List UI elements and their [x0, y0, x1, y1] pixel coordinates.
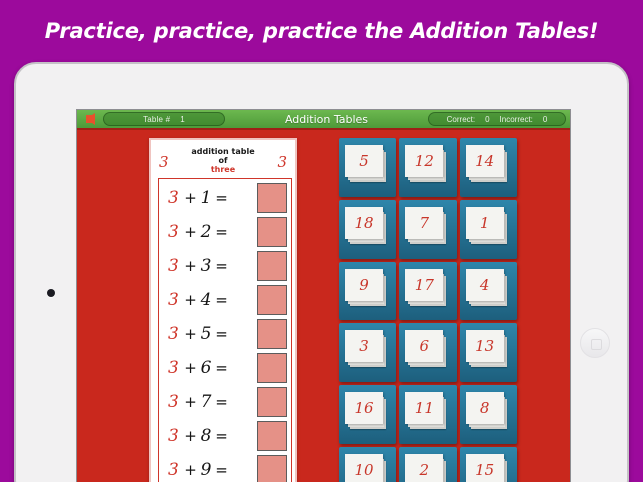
answer-slot[interactable]	[257, 455, 287, 482]
equation-equals: =	[214, 291, 229, 309]
heading-line-2: of	[155, 156, 291, 165]
card-face: 6	[405, 330, 443, 362]
correct-value: 0	[485, 115, 489, 124]
equation-addend: 4	[198, 290, 214, 310]
equation-row: 3+1=	[159, 181, 291, 215]
table-number: 1	[180, 115, 185, 124]
card-face: 14	[466, 145, 504, 177]
equation-base: 3	[168, 358, 183, 378]
tile-number: 14	[475, 152, 494, 170]
tile-number: 12	[415, 152, 434, 170]
tile-number: 6	[420, 337, 430, 355]
equation-equals: =	[214, 257, 229, 275]
equation-equals: =	[214, 393, 229, 411]
answer-tile[interactable]: 11	[399, 385, 456, 444]
tile-number: 11	[415, 399, 434, 417]
answer-tile[interactable]: 12	[399, 138, 456, 197]
answer-tile[interactable]: 3	[339, 323, 396, 382]
tile-number: 9	[359, 276, 369, 294]
table-number-pill[interactable]: Table # 1	[103, 112, 225, 126]
answer-tile[interactable]: 18	[339, 200, 396, 259]
answer-slot[interactable]	[257, 285, 287, 315]
correct-label: Correct:	[447, 115, 475, 124]
table-label: Table #	[143, 115, 170, 124]
equation-equals: =	[214, 223, 229, 241]
answer-tile-grid: 512141871917436131611810215	[339, 138, 517, 482]
card-face: 9	[345, 269, 383, 301]
tile-number: 3	[359, 337, 369, 355]
tile-number: 4	[480, 276, 490, 294]
card-face: 11	[405, 392, 443, 424]
card-face: 10	[345, 454, 383, 482]
answer-tile[interactable]: 14	[460, 138, 517, 197]
equation-base: 3	[168, 222, 183, 242]
equation-equals: =	[214, 461, 229, 479]
tablet-device: Table # 1 Addition Tables Correct: 0 Inc…	[14, 62, 629, 482]
answer-slot[interactable]	[257, 421, 287, 451]
answer-slot[interactable]	[257, 217, 287, 247]
equation-addend: 9	[198, 460, 214, 480]
answer-tile[interactable]: 2	[399, 447, 456, 482]
equation-row: 3+9=	[159, 453, 291, 482]
equation-row: 3+4=	[159, 283, 291, 317]
equation-addend: 7	[198, 392, 214, 412]
answer-tile[interactable]: 6	[399, 323, 456, 382]
equation-equals: =	[214, 427, 229, 445]
tile-number: 17	[415, 276, 434, 294]
card-face: 7	[405, 207, 443, 239]
equation-operator: +	[183, 257, 198, 275]
equation-addend: 2	[198, 222, 214, 242]
equation-base: 3	[168, 188, 183, 208]
equation-equals: =	[214, 359, 229, 377]
answer-slot[interactable]	[257, 183, 287, 213]
equation-operator: +	[183, 223, 198, 241]
answer-slot[interactable]	[257, 251, 287, 281]
card-face: 3	[345, 330, 383, 362]
equation-row: 3+3=	[159, 249, 291, 283]
answer-tile[interactable]: 7	[399, 200, 456, 259]
card-face: 17	[405, 269, 443, 301]
tile-number: 7	[420, 214, 430, 232]
heading-line-3: three	[155, 165, 291, 174]
answer-tile[interactable]: 10	[339, 447, 396, 482]
answer-slot[interactable]	[257, 353, 287, 383]
corner-number-right: 3	[277, 153, 287, 171]
score-pill: Correct: 0 Incorrect: 0	[428, 112, 566, 126]
answer-tile[interactable]: 1	[460, 200, 517, 259]
card-face: 1	[466, 207, 504, 239]
equation-row: 3+6=	[159, 351, 291, 385]
equation-row: 3+7=	[159, 385, 291, 419]
card-face: 5	[345, 145, 383, 177]
equation-addend: 1	[198, 188, 214, 208]
answer-tile[interactable]: 17	[399, 262, 456, 321]
camera-dot-icon	[47, 289, 55, 297]
corner-number-left: 3	[159, 153, 169, 171]
card-face: 4	[466, 269, 504, 301]
equation-base: 3	[168, 290, 183, 310]
equation-base: 3	[168, 324, 183, 344]
page-banner: Practice, practice, practice the Additio…	[0, 0, 643, 62]
tile-number: 5	[359, 152, 369, 170]
tile-number: 10	[354, 461, 373, 479]
equation-operator: +	[183, 325, 198, 343]
tile-number: 8	[480, 399, 490, 417]
incorrect-label: Incorrect:	[500, 115, 533, 124]
app-screen: Table # 1 Addition Tables Correct: 0 Inc…	[76, 109, 571, 482]
answer-tile[interactable]: 16	[339, 385, 396, 444]
equation-equals: =	[214, 189, 229, 207]
card-face: 2	[405, 454, 443, 482]
equation-operator: +	[183, 189, 198, 207]
equation-operator: +	[183, 393, 198, 411]
card-heading: addition table of three	[155, 144, 291, 175]
addition-table-card: 3 3 addition table of three 3+1=3+2=3+3=…	[149, 138, 297, 482]
equation-row: 3+5=	[159, 317, 291, 351]
card-face: 12	[405, 145, 443, 177]
tile-number: 2	[420, 461, 430, 479]
card-face: 8	[466, 392, 504, 424]
tile-number: 13	[475, 337, 494, 355]
equation-operator: +	[183, 359, 198, 377]
answer-slot[interactable]	[257, 319, 287, 349]
card-face: 15	[466, 454, 504, 482]
equation-list: 3+1=3+2=3+3=3+4=3+5=3+6=3+7=3+8=3+9=	[158, 178, 292, 482]
banner-title: Practice, practice, practice the Additio…	[45, 19, 599, 43]
card-face: 13	[466, 330, 504, 362]
answer-tile[interactable]: 4	[460, 262, 517, 321]
card-face: 18	[345, 207, 383, 239]
back-button[interactable]	[77, 109, 103, 129]
back-arrow-icon	[86, 113, 95, 125]
equation-addend: 8	[198, 426, 214, 446]
heading-line-1: addition table	[155, 147, 291, 156]
equation-row: 3+8=	[159, 419, 291, 453]
answer-tile[interactable]: 5	[339, 138, 396, 197]
tile-number: 15	[475, 461, 494, 479]
answer-tile[interactable]: 9	[339, 262, 396, 321]
tile-number: 18	[354, 214, 373, 232]
equation-equals: =	[214, 325, 229, 343]
card-face: 16	[345, 392, 383, 424]
app-toolbar: Table # 1 Addition Tables Correct: 0 Inc…	[77, 110, 571, 130]
equation-base: 3	[168, 460, 183, 480]
incorrect-value: 0	[543, 115, 547, 124]
equation-base: 3	[168, 392, 183, 412]
tile-number: 1	[480, 214, 490, 232]
equation-base: 3	[168, 426, 183, 446]
equation-addend: 3	[198, 256, 214, 276]
equation-operator: +	[183, 461, 198, 479]
tile-number: 16	[354, 399, 373, 417]
home-button[interactable]	[580, 328, 610, 358]
answer-tile[interactable]: 15	[460, 447, 517, 482]
equation-operator: +	[183, 291, 198, 309]
equation-base: 3	[168, 256, 183, 276]
answer-tile-panel: 512141871917436131611810215	[339, 138, 517, 482]
answer-tile[interactable]: 8	[460, 385, 517, 444]
answer-tile[interactable]: 13	[460, 323, 517, 382]
equation-addend: 6	[198, 358, 214, 378]
page-title: Addition Tables	[225, 113, 428, 126]
equation-addend: 5	[198, 324, 214, 344]
equation-operator: +	[183, 427, 198, 445]
equation-row: 3+2=	[159, 215, 291, 249]
answer-slot[interactable]	[257, 387, 287, 417]
